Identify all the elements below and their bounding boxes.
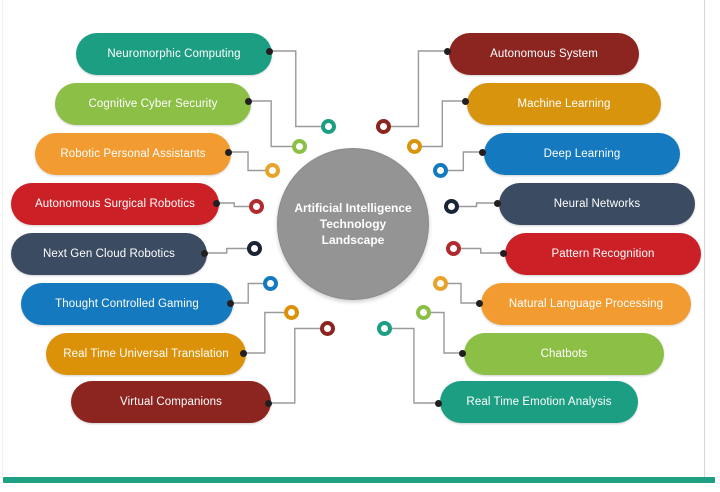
- connector-dot-neural-networks: [494, 200, 501, 207]
- ring-next-gen-cloud-robotics: [247, 241, 262, 256]
- ring-real-time-emotion-analysis: [377, 321, 392, 336]
- node-machine-learning[interactable]: Machine Learning: [467, 83, 661, 125]
- connector-dot-robotic-personal-assistants: [225, 149, 232, 156]
- node-label: Neuromorphic Computing: [107, 48, 240, 61]
- connector-dot-deep-learning: [479, 149, 486, 156]
- ring-thought-controlled-gaming: [263, 276, 278, 291]
- ring-real-time-universal-translation: [284, 305, 299, 320]
- ring-natural-language-processing: [433, 276, 448, 291]
- ring-pattern-recognition: [446, 241, 461, 256]
- ring-neuromorphic-computing: [321, 119, 336, 134]
- ring-neural-networks: [444, 199, 459, 214]
- node-label: Real Time Universal Translation: [63, 348, 228, 361]
- node-label: Real Time Emotion Analysis: [466, 396, 611, 409]
- node-deep-learning[interactable]: Deep Learning: [484, 133, 680, 175]
- node-label: Pattern Recognition: [552, 248, 655, 261]
- center-hub[interactable]: Artificial Intelligence Technology Lands…: [277, 148, 429, 300]
- connector-dot-neuromorphic-computing: [266, 48, 273, 55]
- node-label: Virtual Companions: [120, 396, 222, 409]
- connector-dot-autonomous-surgical-robotics: [213, 200, 220, 207]
- frame-left-border: [2, 0, 3, 480]
- connector-dot-real-time-emotion-analysis: [435, 400, 442, 407]
- ring-chatbots: [416, 305, 431, 320]
- connector-dot-cognitive-cyber-security: [245, 98, 252, 105]
- ring-autonomous-system: [376, 119, 391, 134]
- wire-autonomous-system: [384, 51, 448, 127]
- node-label: Chatbots: [541, 348, 588, 361]
- ring-cognitive-cyber-security: [292, 139, 307, 154]
- node-label: Autonomous Surgical Robotics: [35, 198, 195, 211]
- connector-dot-chatbots: [459, 350, 466, 357]
- wire-virtual-companions: [268, 329, 328, 404]
- ring-virtual-companions: [320, 321, 335, 336]
- ring-machine-learning: [407, 139, 422, 154]
- node-label: Next Gen Cloud Robotics: [43, 248, 175, 261]
- ai-technology-landscape-diagram: Neuromorphic ComputingCognitive Cyber Se…: [0, 0, 720, 492]
- wire-chatbots: [424, 313, 463, 354]
- wire-real-time-emotion-analysis: [385, 329, 439, 404]
- connector-dot-natural-language-processing: [476, 300, 483, 307]
- node-label: Autonomous System: [490, 48, 598, 61]
- connector-dot-machine-learning: [462, 98, 469, 105]
- connector-dot-autonomous-system: [444, 48, 451, 55]
- node-chatbots[interactable]: Chatbots: [464, 333, 664, 375]
- node-thought-controlled-gaming[interactable]: Thought Controlled Gaming: [21, 283, 233, 325]
- ring-autonomous-surgical-robotics: [249, 199, 264, 214]
- connector-dot-real-time-universal-translation: [240, 350, 247, 357]
- wire-real-time-universal-translation: [243, 313, 292, 354]
- bottom-accent-bar: [3, 477, 715, 483]
- center-hub-label: Artificial Intelligence Technology Lands…: [294, 200, 411, 249]
- node-next-gen-cloud-robotics[interactable]: Next Gen Cloud Robotics: [11, 233, 207, 275]
- node-label: Deep Learning: [544, 148, 621, 161]
- node-label: Robotic Personal Assistants: [60, 148, 205, 161]
- node-label: Neural Networks: [554, 198, 641, 211]
- ring-robotic-personal-assistants: [265, 163, 280, 178]
- node-label: Natural Language Processing: [509, 298, 663, 311]
- node-autonomous-system[interactable]: Autonomous System: [449, 33, 639, 75]
- connector-dot-thought-controlled-gaming: [227, 300, 234, 307]
- node-label: Cognitive Cyber Security: [89, 98, 218, 111]
- node-virtual-companions[interactable]: Virtual Companions: [71, 381, 271, 423]
- node-neuromorphic-computing[interactable]: Neuromorphic Computing: [76, 33, 272, 75]
- node-robotic-personal-assistants[interactable]: Robotic Personal Assistants: [35, 133, 231, 175]
- wire-neuromorphic-computing: [269, 51, 329, 127]
- node-label: Machine Learning: [517, 98, 610, 111]
- node-pattern-recognition[interactable]: Pattern Recognition: [505, 233, 701, 275]
- frame-right-border: [704, 0, 705, 480]
- connector-dot-pattern-recognition: [500, 250, 507, 257]
- connector-dot-next-gen-cloud-robotics: [201, 250, 208, 257]
- node-neural-networks[interactable]: Neural Networks: [499, 183, 695, 225]
- wire-machine-learning: [415, 101, 466, 147]
- ring-deep-learning: [433, 163, 448, 178]
- node-real-time-universal-translation[interactable]: Real Time Universal Translation: [46, 333, 246, 375]
- node-natural-language-processing[interactable]: Natural Language Processing: [481, 283, 691, 325]
- wire-cognitive-cyber-security: [248, 101, 300, 147]
- node-autonomous-surgical-robotics[interactable]: Autonomous Surgical Robotics: [11, 183, 219, 225]
- node-label: Thought Controlled Gaming: [55, 298, 199, 311]
- connector-dot-virtual-companions: [265, 400, 272, 407]
- node-cognitive-cyber-security[interactable]: Cognitive Cyber Security: [55, 83, 251, 125]
- node-real-time-emotion-analysis[interactable]: Real Time Emotion Analysis: [440, 381, 638, 423]
